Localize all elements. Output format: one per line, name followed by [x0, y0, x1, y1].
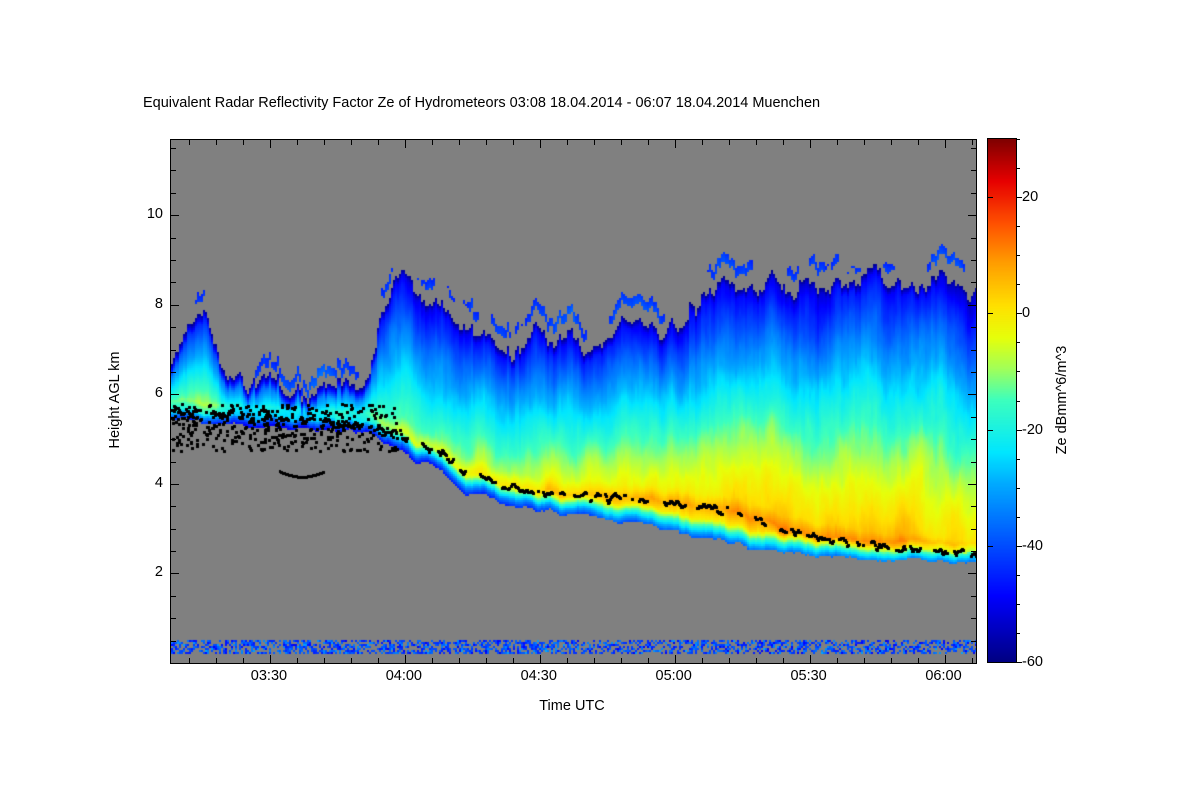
- y-axis-tick: [170, 305, 179, 306]
- x-axis-tick: [405, 655, 406, 664]
- x-axis-tick: [783, 658, 784, 664]
- x-axis-title: Time UTC: [539, 698, 605, 714]
- x-axis-tick: [756, 658, 757, 664]
- y-axis-tick: [170, 282, 176, 283]
- colorbar-tick-label: -20: [1022, 422, 1043, 438]
- colorbar-tick-label: -60: [1022, 654, 1043, 670]
- y-axis-tick-right: [971, 529, 977, 530]
- y-axis-tick: [170, 551, 176, 552]
- x-axis-tick-top: [783, 139, 784, 145]
- y-axis-tick-right: [971, 170, 977, 171]
- x-axis-tick: [513, 658, 514, 664]
- x-axis-tick: [945, 655, 946, 664]
- x-axis-tick: [918, 658, 919, 664]
- x-axis-tick-top: [513, 139, 514, 145]
- x-axis-tick: [891, 658, 892, 664]
- y-axis-tick-label: 6: [155, 385, 163, 401]
- plot-area: [170, 139, 977, 664]
- x-axis-tick-label: 03:30: [251, 668, 287, 684]
- y-axis-tick: [170, 327, 176, 328]
- x-axis-tick-top: [702, 139, 703, 145]
- x-axis-tick-label: 05:30: [790, 668, 826, 684]
- x-axis-tick-label: 04:30: [521, 668, 557, 684]
- y-axis-tick-right: [971, 439, 977, 440]
- colorbar-title: Ze dBmm^6/m^3: [1054, 346, 1070, 455]
- colorbar-minor-tick: [1016, 488, 1020, 489]
- x-axis-tick-top: [729, 139, 730, 145]
- x-axis-tick: [675, 655, 676, 664]
- colorbar-tick-inner: [988, 313, 993, 314]
- colorbar-tick-label: 0: [1022, 305, 1030, 321]
- x-axis-tick-top: [486, 139, 487, 145]
- x-axis-tick-top: [594, 139, 595, 145]
- y-axis-tick: [170, 529, 176, 530]
- x-axis-tick-top: [837, 139, 838, 145]
- y-axis-tick-right: [971, 282, 977, 283]
- x-axis-tick: [351, 658, 352, 664]
- x-axis-tick-top: [243, 139, 244, 145]
- x-axis-tick-top: [648, 139, 649, 145]
- y-axis-tick: [170, 596, 176, 597]
- colorbar-minor-tick: [1016, 226, 1020, 227]
- y-axis-tick: [170, 170, 176, 171]
- x-axis-tick: [594, 658, 595, 664]
- x-axis-tick-top: [945, 139, 946, 148]
- colorbar-minor-tick: [1016, 342, 1020, 343]
- y-axis-tick: [170, 350, 176, 351]
- colorbar-tick-inner: [988, 546, 993, 547]
- colorbar-minor-tick: [1016, 255, 1020, 256]
- x-axis-tick: [270, 655, 271, 664]
- x-axis-tick-top: [675, 139, 676, 148]
- x-axis-tick-top: [756, 139, 757, 145]
- x-axis-tick-top: [972, 139, 973, 145]
- colorbar-tick-inner: [988, 662, 993, 663]
- colorbar-tick-label: 20: [1022, 189, 1038, 205]
- x-axis-tick: [432, 658, 433, 664]
- colorbar-minor-tick: [1016, 633, 1020, 634]
- radar-reflectivity-figure: Equivalent Radar Reflectivity Factor Ze …: [0, 0, 1200, 800]
- y-axis-tick-right: [968, 215, 977, 216]
- x-axis-tick: [864, 658, 865, 664]
- colorbar-minor-tick: [1016, 575, 1020, 576]
- x-axis-tick-top: [864, 139, 865, 145]
- x-axis-tick-top: [324, 139, 325, 145]
- y-axis-tick: [170, 462, 176, 463]
- colorbar-minor-tick: [1016, 139, 1020, 140]
- y-axis-tick-right: [968, 394, 977, 395]
- x-axis-tick: [189, 658, 190, 664]
- x-axis-tick-top: [432, 139, 433, 145]
- x-axis-tick-top: [918, 139, 919, 145]
- colorbar-minor-tick: [1016, 284, 1020, 285]
- x-axis-tick: [216, 658, 217, 664]
- y-axis-tick: [170, 506, 176, 507]
- y-axis-tick-right: [971, 417, 977, 418]
- y-axis-tick-right: [971, 260, 977, 261]
- page-title: Equivalent Radar Reflectivity Factor Ze …: [143, 95, 820, 111]
- y-axis-tick-label: 10: [147, 206, 163, 222]
- y-axis-tick-right: [968, 573, 977, 574]
- y-axis-tick: [170, 372, 176, 373]
- y-axis-tick-right: [971, 350, 977, 351]
- y-axis-tick-right: [971, 551, 977, 552]
- x-axis-tick-top: [405, 139, 406, 148]
- y-axis-tick-right: [971, 148, 977, 149]
- y-axis-tick-right: [971, 193, 977, 194]
- colorbar-tick-inner: [988, 197, 993, 198]
- x-axis-tick: [486, 658, 487, 664]
- radar-heatmap-canvas: [171, 140, 976, 663]
- y-axis-tick: [170, 215, 179, 216]
- y-axis-tick-right: [971, 372, 977, 373]
- x-axis-tick-label: 04:00: [386, 668, 422, 684]
- x-axis-tick: [459, 658, 460, 664]
- x-axis-tick: [972, 658, 973, 664]
- x-axis-tick-top: [351, 139, 352, 145]
- colorbar-gradient: [988, 139, 1016, 662]
- y-axis-tick-right: [968, 305, 977, 306]
- y-axis-title: Height AGL km: [107, 352, 123, 449]
- y-axis-tick: [170, 394, 179, 395]
- x-axis-tick: [243, 658, 244, 664]
- x-axis-tick-top: [297, 139, 298, 145]
- y-axis-tick-right: [971, 506, 977, 507]
- x-axis-tick-top: [891, 139, 892, 145]
- x-axis-tick: [324, 658, 325, 664]
- y-axis-tick: [170, 260, 176, 261]
- x-axis-tick: [648, 658, 649, 664]
- x-axis-tick: [378, 658, 379, 664]
- x-axis-tick-top: [459, 139, 460, 145]
- x-axis-tick-top: [567, 139, 568, 145]
- y-axis-tick: [170, 573, 179, 574]
- y-axis-tick: [170, 439, 176, 440]
- x-axis-tick-top: [378, 139, 379, 145]
- y-axis-tick: [170, 618, 176, 619]
- colorbar: [988, 139, 1016, 662]
- y-axis-tick-right: [971, 618, 977, 619]
- x-axis-tick-top: [189, 139, 190, 145]
- y-axis-tick: [170, 148, 176, 149]
- colorbar-minor-tick: [1016, 459, 1020, 460]
- x-axis-tick-top: [621, 139, 622, 145]
- x-axis-tick: [297, 658, 298, 664]
- y-axis-tick-right: [971, 596, 977, 597]
- y-axis-tick-right: [971, 238, 977, 239]
- x-axis-tick: [837, 658, 838, 664]
- x-axis-tick: [567, 658, 568, 664]
- y-axis-tick-label: 2: [155, 564, 163, 580]
- y-axis-tick: [170, 193, 176, 194]
- x-axis-tick: [702, 658, 703, 664]
- x-axis-tick: [540, 655, 541, 664]
- x-axis-tick: [729, 658, 730, 664]
- colorbar-minor-tick: [1016, 168, 1020, 169]
- x-axis-tick-top: [216, 139, 217, 145]
- x-axis-tick-top: [810, 139, 811, 148]
- y-axis-tick-right: [971, 327, 977, 328]
- x-axis-tick: [621, 658, 622, 664]
- x-axis-tick-label: 06:00: [925, 668, 961, 684]
- colorbar-minor-tick: [1016, 401, 1020, 402]
- x-axis-tick-top: [540, 139, 541, 148]
- x-axis-tick-label: 05:00: [656, 668, 692, 684]
- y-axis-tick-right: [971, 462, 977, 463]
- colorbar-minor-tick: [1016, 604, 1020, 605]
- y-axis-tick: [170, 417, 176, 418]
- y-axis-tick-right: [968, 484, 977, 485]
- y-axis-tick-right: [971, 641, 977, 642]
- colorbar-tick-label: -40: [1022, 538, 1043, 554]
- x-axis-tick-top: [270, 139, 271, 148]
- colorbar-minor-tick: [1016, 517, 1020, 518]
- colorbar-tick-inner: [988, 430, 993, 431]
- x-axis-tick: [810, 655, 811, 664]
- y-axis-tick: [170, 238, 176, 239]
- y-axis-tick-label: 8: [155, 296, 163, 312]
- colorbar-minor-tick: [1016, 371, 1020, 372]
- y-axis-tick-label: 4: [155, 475, 163, 491]
- y-axis-tick: [170, 641, 176, 642]
- y-axis-tick: [170, 484, 179, 485]
